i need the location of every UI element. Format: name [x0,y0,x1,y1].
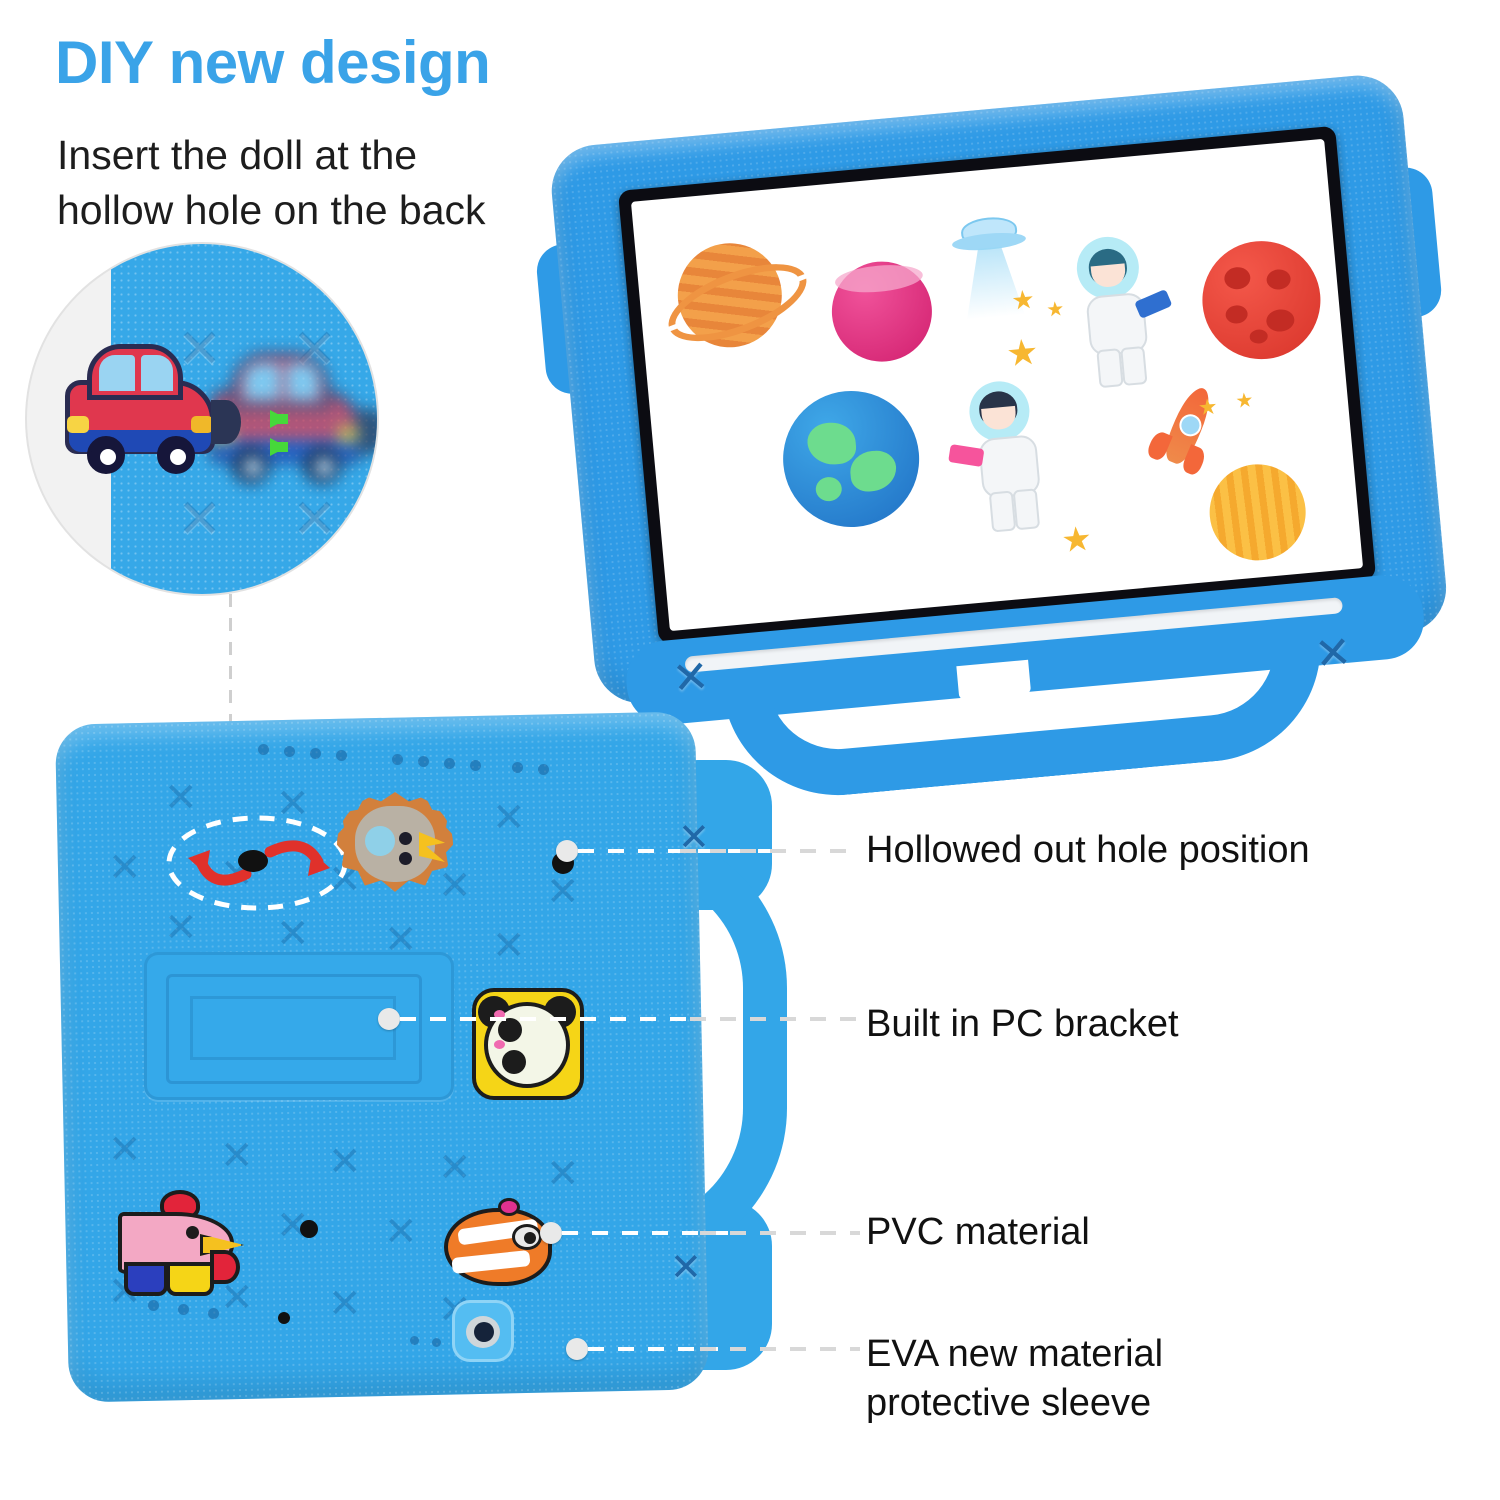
callout-hollow-hole: Hollowed out hole position [866,826,1310,875]
mic-hole [300,1220,318,1238]
callout-dot[interactable] [556,840,578,862]
x-texture-icon: ✕ [177,492,222,546]
earth-planet-icon [777,385,925,533]
star-icon: ★ [1010,286,1036,314]
callout-pc-bracket: Built in PC bracket [866,1000,1179,1049]
lion-sticker [337,792,453,896]
clownfish-sticker [440,1196,568,1292]
insert-arrow-icon [270,410,287,428]
callout-dash [690,1017,860,1021]
tablet-front-view: ★ ★ ★ [548,69,1482,786]
x-texture-icon: ✕ [177,322,222,376]
x-texture-icon: ✕ [292,492,337,546]
callout-dot[interactable] [540,1222,562,1244]
x-cutout-icon: ✕ [670,655,711,702]
camera-cutout [452,1300,514,1362]
callout-dot[interactable] [378,1008,400,1030]
callout-dash [680,849,860,853]
callout-dash [700,1347,860,1351]
infographic-canvas: DIY new design Insert the doll at the ho… [0,0,1500,1500]
callout-dash-white [400,1017,700,1021]
page-subtitle: Insert the doll at the hollow hole on th… [57,128,486,237]
astronaut-icon [1056,232,1179,391]
panda-sticker [472,988,584,1100]
red-crater-planet-icon [1197,236,1325,364]
unicorn-bird-sticker [114,1190,266,1302]
callout-dash [700,1231,860,1235]
star-icon: ★ [1235,390,1255,412]
orange-planet-icon [1205,460,1309,564]
pink-planet-icon [828,257,937,366]
x-cutout-icon: ✕ [1313,631,1354,678]
star-icon: ★ [1060,522,1093,559]
astronaut-icon [949,376,1072,535]
callout-dot[interactable] [566,1338,588,1360]
tablet-back-view: ✕ ✕ ✕ ✕ ✕ ✕ ✕ ✕ ✕ ✕ ✕ ✕ ✕ ✕ ✕ ✕ ✕ ✕ ✕ ✕ … [52,700,792,1420]
x-cutout-icon: ✕ [670,1248,702,1286]
callout-dash-white [588,1347,718,1351]
rocket-icon [1137,377,1231,492]
hollow-hole [238,850,268,872]
tablet-screen: ★ ★ ★ [631,139,1363,631]
screen-bezel: ★ ★ ★ [618,126,1376,644]
page-title: DIY new design [55,33,490,93]
diy-hole-closeup-inset: ✕ ✕ ✕ ✕ [27,244,377,594]
callout-pvc-material: PVC material [866,1208,1090,1257]
insert-arrow-icon [270,438,287,456]
mic-hole [278,1312,290,1324]
star-icon: ★ [1005,334,1040,373]
callout-eva-sleeve: EVA new material protective sleeve [866,1330,1163,1427]
pc-kickstand-bracket[interactable] [144,952,454,1100]
saturn-planet-icon [665,230,795,360]
star-icon: ★ [1197,396,1219,420]
